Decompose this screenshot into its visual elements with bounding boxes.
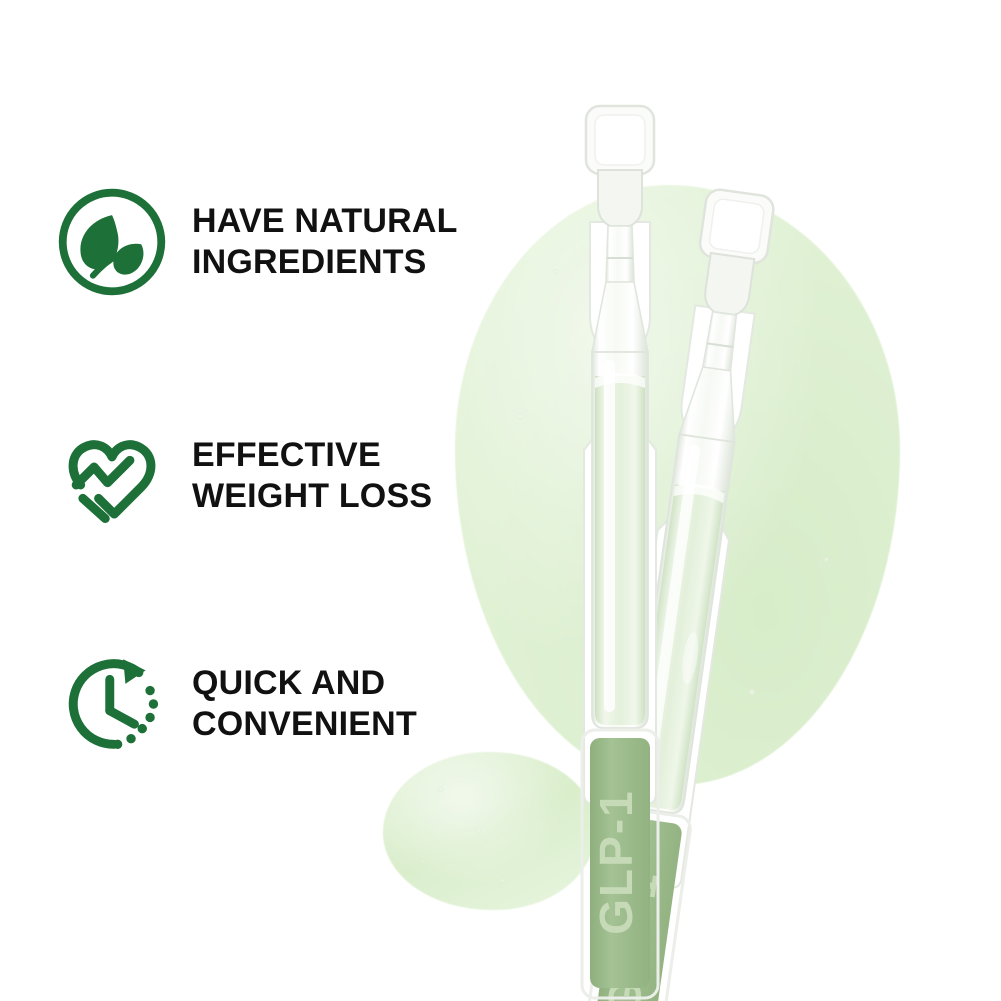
product-vial-front: GLP-1 <box>560 104 680 804</box>
leaf-in-circle-icon <box>56 186 168 298</box>
heart-pulse-icon <box>56 420 168 532</box>
clock-arrow-icon <box>56 648 168 760</box>
vial-liquid <box>595 376 645 725</box>
product-feature-graphic: GLP-1 <box>0 0 1001 1001</box>
feature-label: EFFECTIVE WEIGHT LOSS <box>192 435 432 518</box>
vial-label: GLP-1 <box>590 738 650 988</box>
feature-have-natural-ingredients: HAVE NATURAL INGREDIENTS <box>56 186 458 298</box>
feature-quick-and-convenient: QUICK AND CONVENIENT <box>56 648 417 760</box>
feature-label: QUICK AND CONVENIENT <box>192 663 417 746</box>
glp-label-text-front: GLP-1 <box>590 789 642 934</box>
feature-effective-weight-loss: EFFECTIVE WEIGHT LOSS <box>56 420 432 532</box>
vial-cap-neck <box>598 170 642 226</box>
vial-neck <box>606 226 634 282</box>
feature-label: HAVE NATURAL INGREDIENTS <box>192 201 458 284</box>
vial-highlight <box>604 360 615 712</box>
vial-cap-neck <box>703 253 755 317</box>
vial-cap-tab <box>586 106 654 174</box>
